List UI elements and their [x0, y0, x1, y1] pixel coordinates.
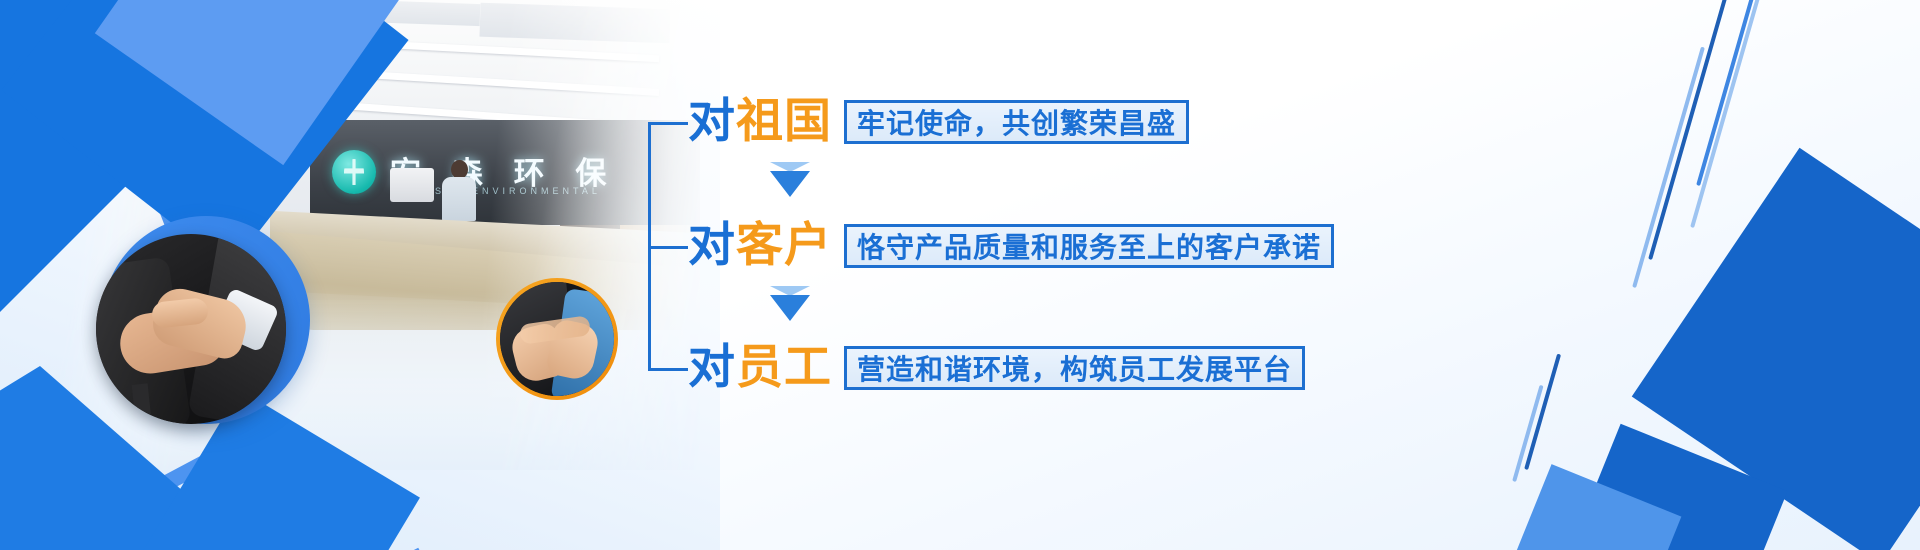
- values-banner: 宏 森 环 保 HONGSEN ENVIRONMENTAL: [0, 0, 1920, 550]
- value-1-prefix: 对: [688, 88, 736, 156]
- handshake-circle-photo: [96, 234, 286, 424]
- value-2-subject: 客户: [736, 212, 832, 280]
- value-row-1: 对 祖国 牢记使命，共创繁荣昌盛: [688, 88, 1189, 156]
- value-row-3: 对 员工 营造和谐环境，构筑员工发展平台: [688, 334, 1305, 402]
- value-row-2: 对 客户 恪守产品质量和服务至上的客户承诺: [688, 212, 1334, 280]
- value-1-subject: 祖国: [736, 88, 832, 156]
- value-1-statement: 牢记使命，共创繁荣昌盛: [844, 100, 1189, 144]
- value-2-statement: 恪守产品质量和服务至上的客户承诺: [844, 224, 1334, 268]
- bracket-arm-2: [648, 246, 688, 249]
- value-3-subject: 员工: [736, 334, 832, 402]
- value-3-statement: 营造和谐环境，构筑员工发展平台: [844, 346, 1305, 390]
- value-2-prefix: 对: [688, 212, 736, 280]
- values-list: 对 祖国 牢记使命，共创繁荣昌盛 对 客户 恪守产品质量和服务至上的客户承诺 对…: [648, 74, 1348, 404]
- applause-circle-photo: [500, 282, 614, 396]
- value-3-prefix: 对: [688, 334, 736, 402]
- bracket-arm-1: [648, 122, 688, 125]
- bracket-arm-3: [648, 368, 688, 371]
